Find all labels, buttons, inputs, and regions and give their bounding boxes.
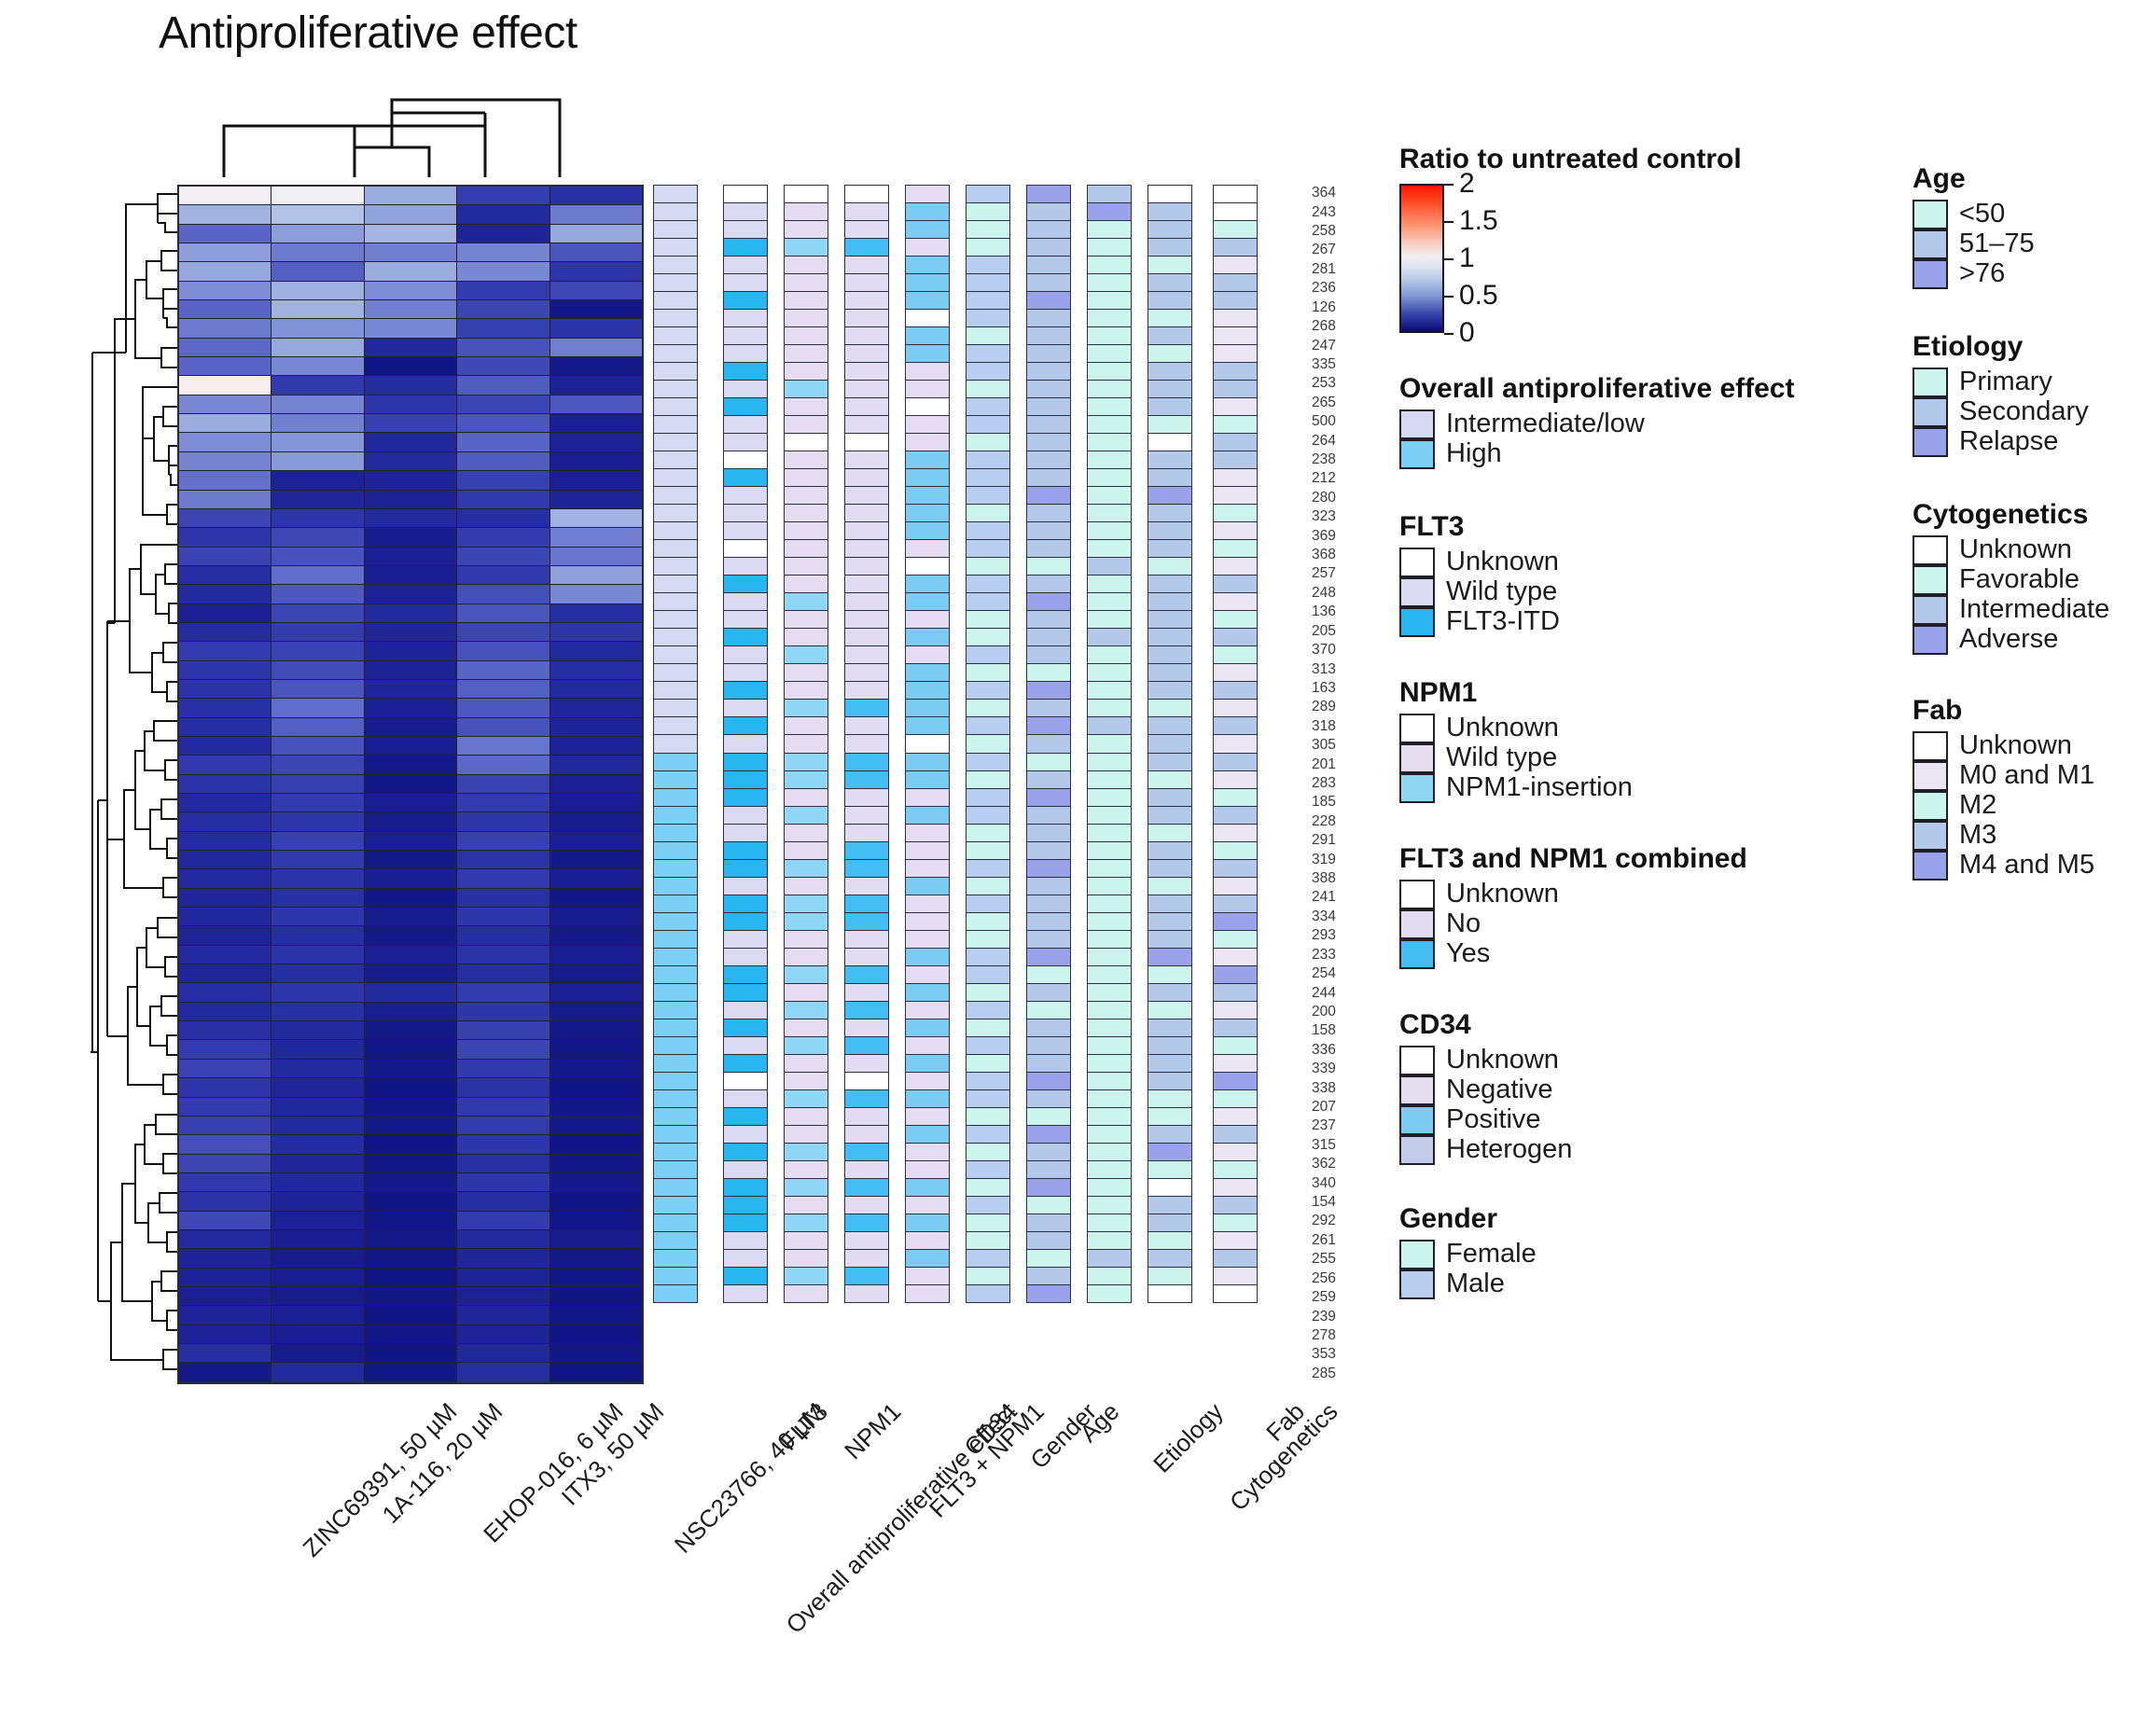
heatmap-cell bbox=[271, 1363, 364, 1381]
annotation-cell bbox=[1148, 912, 1192, 931]
annotation-cell bbox=[1148, 309, 1192, 327]
heatmap-cell bbox=[457, 680, 549, 698]
legend-swatch bbox=[1399, 1269, 1435, 1299]
annotation-cell bbox=[1087, 1196, 1132, 1214]
x-axis-label: Fab bbox=[1260, 1397, 1311, 1448]
heatmap-cell bbox=[550, 205, 642, 223]
heatmap-cell bbox=[179, 1363, 271, 1381]
annotation-cell bbox=[1148, 1019, 1192, 1037]
heatmap-cell bbox=[271, 832, 364, 850]
annotation-cell bbox=[905, 1036, 950, 1055]
annotation-cell bbox=[653, 645, 698, 664]
heatmap-cell bbox=[457, 1021, 549, 1039]
heatmap-row bbox=[179, 983, 642, 1002]
annotation-cell bbox=[784, 344, 828, 363]
annotation-cell bbox=[784, 770, 828, 789]
legend-label: M0 and M1 bbox=[1959, 760, 2094, 790]
heatmap-row bbox=[179, 187, 642, 205]
heatmap-cell bbox=[457, 471, 549, 489]
annotation-cell bbox=[1026, 948, 1071, 966]
annotation-cell bbox=[1213, 1196, 1258, 1214]
annotation-cell bbox=[905, 716, 950, 735]
annotation-cell bbox=[905, 309, 950, 327]
legend-item: M4 and M5 bbox=[1913, 850, 2094, 880]
annotation-cell bbox=[1026, 770, 1071, 789]
annotation-cell bbox=[1213, 824, 1258, 842]
heatmap-cell bbox=[457, 1325, 549, 1343]
heatmap-cell bbox=[550, 1212, 642, 1229]
annotation-cell bbox=[905, 521, 950, 540]
annotation-cell bbox=[653, 592, 698, 611]
annotation-cell bbox=[905, 645, 950, 664]
annotation-cell bbox=[653, 504, 698, 522]
legend-label: Secondary bbox=[1959, 396, 2089, 426]
heatmap-cell bbox=[457, 566, 549, 584]
annotation-cell bbox=[653, 1036, 698, 1055]
heatmap-row bbox=[179, 1269, 642, 1287]
heatmap-cell bbox=[365, 585, 457, 603]
legend-swatch bbox=[1913, 761, 1948, 791]
annotation-cell bbox=[723, 645, 768, 664]
annotation-cell bbox=[653, 486, 698, 505]
annotation-cell bbox=[653, 238, 698, 257]
legend-label: High bbox=[1446, 438, 1502, 468]
annotation-cell bbox=[905, 1054, 950, 1073]
annotation-cell bbox=[1026, 1125, 1071, 1144]
heatmap-cell bbox=[457, 1135, 549, 1153]
annotation-cell bbox=[653, 965, 698, 984]
annotation-cell bbox=[966, 220, 1010, 239]
annotation-cell bbox=[844, 1036, 889, 1055]
heatmap-cell bbox=[271, 756, 364, 773]
heatmap-cell bbox=[179, 357, 271, 375]
annotation-cell bbox=[966, 610, 1010, 629]
legend-swatch bbox=[1399, 880, 1435, 909]
annotation-cell bbox=[784, 1267, 828, 1285]
heatmap-cell bbox=[550, 926, 642, 944]
heatmap-cell bbox=[179, 395, 271, 413]
annotation-cell bbox=[844, 344, 889, 363]
heatmap-cell bbox=[271, 889, 364, 907]
annotation-cell bbox=[966, 291, 1010, 310]
colorbar-tick-label: 0.5 bbox=[1459, 280, 1498, 312]
annotation-cell bbox=[905, 468, 950, 487]
legend-item: <50 bbox=[1913, 199, 2035, 229]
heatmap-cell bbox=[457, 395, 549, 413]
heatmap-cell bbox=[550, 376, 642, 394]
heatmap-cell bbox=[271, 491, 364, 508]
legend-label: 51–75 bbox=[1959, 229, 2035, 258]
row-id-label: 205 bbox=[1312, 624, 1336, 639]
legend-items: UnknownM0 and M1M2M3M4 and M5 bbox=[1913, 730, 2094, 880]
annotation-cell bbox=[844, 220, 889, 239]
annotation-cell bbox=[653, 1019, 698, 1037]
heatmap-cell bbox=[457, 319, 549, 337]
legend-label: Heterogen bbox=[1446, 1134, 1572, 1164]
row-id-label: 255 bbox=[1312, 1252, 1336, 1267]
annotation-cell bbox=[1213, 433, 1258, 451]
annotation-cell bbox=[844, 326, 889, 345]
annotation-cell bbox=[905, 877, 950, 895]
annotation-cell bbox=[1213, 521, 1258, 540]
annotation-cell bbox=[844, 1214, 889, 1232]
heatmap-cell bbox=[457, 1040, 549, 1058]
annotation-cell bbox=[966, 1036, 1010, 1055]
heatmap-cell bbox=[457, 851, 549, 868]
heatmap-cell bbox=[550, 414, 642, 432]
annotation-cell bbox=[966, 1072, 1010, 1090]
annotation-cell bbox=[844, 948, 889, 966]
annotation-cell bbox=[1026, 1001, 1071, 1020]
annotation-cell bbox=[905, 1089, 950, 1108]
annotation-cell bbox=[1148, 1107, 1192, 1126]
annotation-cell bbox=[1213, 948, 1258, 966]
heatmap-cell bbox=[271, 1269, 364, 1286]
row-id-label: 237 bbox=[1312, 1118, 1336, 1133]
annotation-track-flt3 bbox=[723, 185, 768, 1384]
annotation-cell bbox=[844, 1267, 889, 1285]
heatmap-cell bbox=[179, 794, 271, 811]
row-id-label: 353 bbox=[1312, 1347, 1336, 1362]
legend-item: Favorable bbox=[1913, 564, 2109, 594]
heatmap-cell bbox=[365, 908, 457, 925]
annotation-cell bbox=[1213, 1089, 1258, 1108]
heatmap-cell bbox=[457, 1249, 549, 1267]
annotation-cell bbox=[784, 610, 828, 629]
heatmap-cell bbox=[457, 1230, 549, 1248]
heatmap-cell bbox=[457, 585, 549, 603]
annotation-cell bbox=[784, 415, 828, 434]
heatmap-row bbox=[179, 452, 642, 471]
annotation-cell bbox=[784, 185, 828, 203]
heatmap-cell bbox=[179, 1325, 271, 1343]
heatmap-cell bbox=[550, 585, 642, 603]
annotation-cell bbox=[1148, 824, 1192, 842]
annotation-cell bbox=[723, 504, 768, 522]
annotation-cell bbox=[1087, 895, 1132, 913]
heatmap-cell bbox=[550, 983, 642, 1001]
annotation-cell bbox=[1148, 788, 1192, 807]
legend-items: PrimarySecondaryRelapse bbox=[1913, 367, 2089, 456]
annotation-cell bbox=[723, 770, 768, 789]
annotation-cell bbox=[653, 1001, 698, 1020]
annotation-cell bbox=[1087, 539, 1132, 558]
annotation-cell bbox=[1213, 788, 1258, 807]
heatmap-cell bbox=[550, 1325, 642, 1343]
legend-item: Relapse bbox=[1913, 426, 2089, 456]
legend-item: Yes bbox=[1399, 938, 1747, 968]
annotation-cell bbox=[966, 1284, 1010, 1303]
heatmap-cell bbox=[457, 699, 549, 716]
annotation-track-etiology bbox=[1087, 185, 1132, 1384]
heatmap-cell bbox=[271, 452, 364, 470]
annotation-cell bbox=[966, 309, 1010, 327]
annotation-cell bbox=[1026, 202, 1071, 221]
annotation-cell bbox=[1026, 610, 1071, 629]
annotation-cell bbox=[905, 504, 950, 522]
heatmap-cell bbox=[365, 1117, 457, 1134]
annotation-cell bbox=[1213, 326, 1258, 345]
heatmap-cell bbox=[365, 926, 457, 944]
row-id-label: 228 bbox=[1312, 814, 1336, 829]
annotation-cell bbox=[784, 699, 828, 717]
annotation-cell bbox=[723, 965, 768, 984]
heatmap-cell bbox=[179, 1249, 271, 1267]
row-id-label: 265 bbox=[1312, 395, 1336, 410]
heatmap-cell bbox=[365, 851, 457, 868]
heatmap-cell bbox=[457, 642, 549, 659]
heatmap-cell bbox=[457, 661, 549, 679]
annotation-cell bbox=[905, 185, 950, 203]
annotation-cell bbox=[1087, 557, 1132, 576]
annotation-cell bbox=[966, 841, 1010, 860]
annotation-cell bbox=[905, 1001, 950, 1020]
row-id-label: 136 bbox=[1312, 604, 1336, 619]
annotation-cell bbox=[966, 1160, 1010, 1179]
annotation-cell bbox=[1026, 912, 1071, 931]
annotation-cell bbox=[1087, 1001, 1132, 1020]
legend-label: Unknown bbox=[1959, 534, 2072, 564]
annotation-cell bbox=[905, 663, 950, 682]
heatmap-cell bbox=[457, 869, 549, 887]
annotation-cell bbox=[905, 948, 950, 966]
annotation-cell bbox=[723, 1019, 768, 1037]
heatmap-cell bbox=[365, 623, 457, 641]
annotation-cell bbox=[784, 859, 828, 878]
annotation-cell bbox=[723, 1089, 768, 1108]
annotation-cell bbox=[844, 1231, 889, 1250]
annotation-cell bbox=[723, 202, 768, 221]
legend-npm1: NPM1UnknownWild typeNPM1-insertion bbox=[1399, 677, 1633, 802]
annotation-cell bbox=[1026, 699, 1071, 717]
annotation-cell bbox=[1026, 681, 1071, 700]
heatmap-row bbox=[179, 642, 642, 660]
annotation-cell bbox=[905, 859, 950, 878]
row-id-label: 233 bbox=[1312, 948, 1336, 963]
heatmap-cell bbox=[271, 1306, 364, 1324]
heatmap-cell bbox=[457, 528, 549, 546]
annotation-cell bbox=[1213, 309, 1258, 327]
annotation-cell bbox=[966, 504, 1010, 522]
annotation-cell bbox=[784, 1054, 828, 1073]
annotation-cell bbox=[844, 1249, 889, 1268]
annotation-cell bbox=[723, 451, 768, 469]
colorbar-tick-mark bbox=[1444, 333, 1454, 335]
legend-swatch bbox=[1399, 577, 1435, 607]
heatmap-cell bbox=[271, 1230, 364, 1248]
heatmap-cell bbox=[365, 946, 457, 964]
annotation-cell bbox=[905, 220, 950, 239]
heatmap-cell bbox=[271, 946, 364, 964]
annotation-cell bbox=[653, 930, 698, 949]
heatmap-cell bbox=[457, 1098, 549, 1116]
heatmap-cell bbox=[271, 661, 364, 679]
annotation-cell bbox=[1213, 1036, 1258, 1055]
heatmap-cell bbox=[179, 1287, 271, 1305]
heatmap-cell bbox=[550, 832, 642, 850]
annotation-cell bbox=[844, 770, 889, 789]
legend-items: UnknownFavorableIntermediateAdverse bbox=[1913, 534, 2109, 654]
row-id-label: 257 bbox=[1312, 566, 1336, 581]
heatmap-cell bbox=[550, 756, 642, 773]
annotation-cell bbox=[844, 1054, 889, 1073]
annotation-cell bbox=[1026, 415, 1071, 434]
annotation-cell bbox=[905, 1143, 950, 1161]
annotation-cell bbox=[653, 1267, 698, 1285]
annotation-cell bbox=[784, 1160, 828, 1179]
legend-item: >76 bbox=[1913, 258, 2035, 288]
annotation-cell bbox=[1087, 983, 1132, 1002]
annotation-cell bbox=[1148, 326, 1192, 345]
annotation-cell bbox=[723, 1125, 768, 1144]
heatmap-row bbox=[179, 205, 642, 224]
annotation-cell bbox=[1026, 645, 1071, 664]
legend-swatch bbox=[1913, 397, 1948, 427]
annotation-cell bbox=[1213, 1160, 1258, 1179]
heatmap-cell bbox=[179, 926, 271, 944]
annotation-cell bbox=[1148, 1231, 1192, 1250]
row-id-label: 291 bbox=[1312, 833, 1336, 848]
heatmap-cell bbox=[365, 452, 457, 470]
annotation-cell bbox=[653, 1160, 698, 1179]
annotation-cell bbox=[653, 1231, 698, 1250]
annotation-cell bbox=[844, 1019, 889, 1037]
legend-items: UnknownNegativePositiveHeterogen bbox=[1399, 1045, 1572, 1164]
row-id-label: 247 bbox=[1312, 339, 1336, 354]
annotation-cell bbox=[966, 1001, 1010, 1020]
annotation-cell bbox=[1026, 291, 1071, 310]
heatmap-cell bbox=[550, 1117, 642, 1134]
legend-label: Unknown bbox=[1446, 713, 1559, 742]
row-id-label: 319 bbox=[1312, 853, 1336, 867]
heatmap-cell bbox=[365, 964, 457, 982]
x-axis-label: FLT3 bbox=[774, 1397, 833, 1456]
legend-label: Relapse bbox=[1959, 426, 2058, 456]
annotation-cell bbox=[1026, 344, 1071, 363]
annotation-cell bbox=[844, 983, 889, 1002]
heatmap-cell bbox=[179, 1192, 271, 1210]
annotation-cell bbox=[653, 734, 698, 753]
heatmap-cell bbox=[457, 1363, 549, 1381]
annotation-cell bbox=[653, 344, 698, 363]
legend-label: Unknown bbox=[1446, 1045, 1559, 1075]
legend-swatch bbox=[1913, 821, 1948, 851]
annotation-cell bbox=[905, 433, 950, 451]
x-axis-label: Overall antiproliferative effect bbox=[780, 1397, 1022, 1640]
annotation-cell bbox=[653, 1214, 698, 1232]
annotation-cell bbox=[723, 415, 768, 434]
annotation-cell bbox=[1026, 468, 1071, 487]
annotation-cell bbox=[905, 575, 950, 593]
annotation-cell bbox=[905, 397, 950, 416]
annotation-cell bbox=[784, 1089, 828, 1108]
heatmap-cell bbox=[271, 812, 364, 830]
annotation-cell bbox=[723, 753, 768, 771]
annotation-cell bbox=[966, 1267, 1010, 1285]
annotation-cell bbox=[1213, 291, 1258, 310]
heatmap-cell bbox=[365, 528, 457, 546]
annotation-cell bbox=[905, 326, 950, 345]
annotation-cell bbox=[966, 912, 1010, 931]
heatmap-cell bbox=[365, 491, 457, 508]
heatmap-cell bbox=[365, 889, 457, 907]
heatmap-row bbox=[179, 491, 642, 509]
heatmap-row bbox=[179, 262, 642, 281]
annotation-cell bbox=[1026, 1178, 1071, 1197]
heatmap-row bbox=[179, 699, 642, 717]
heatmap-row bbox=[179, 548, 642, 566]
row-id-label: 315 bbox=[1312, 1138, 1336, 1153]
annotation-cell bbox=[1148, 468, 1192, 487]
annotation-cell bbox=[1087, 433, 1132, 451]
annotation-cell bbox=[1026, 788, 1071, 807]
legend-swatch bbox=[1913, 851, 1948, 881]
heatmap-cell bbox=[457, 775, 549, 793]
legend-item: M2 bbox=[1913, 790, 2094, 820]
annotation-cell bbox=[653, 948, 698, 966]
annotation-cell bbox=[784, 1036, 828, 1055]
annotation-cell bbox=[844, 841, 889, 860]
annotation-cell bbox=[1213, 1178, 1258, 1197]
heatmap-row bbox=[179, 775, 642, 794]
annotation-cell bbox=[784, 681, 828, 700]
heatmap-cell bbox=[457, 1078, 549, 1096]
heatmap-cell bbox=[365, 1078, 457, 1096]
legend-swatch bbox=[1913, 229, 1948, 259]
heatmap-cell bbox=[271, 243, 364, 261]
heatmap-cell bbox=[365, 376, 457, 394]
heatmap-cell bbox=[365, 680, 457, 698]
x-axis-label: Etiology bbox=[1148, 1397, 1229, 1478]
annotation-cell bbox=[723, 1001, 768, 1020]
annotation-cell bbox=[966, 539, 1010, 558]
annotation-cell bbox=[1026, 539, 1071, 558]
annotation-cell bbox=[844, 521, 889, 540]
heatmap-cell bbox=[179, 433, 271, 451]
row-id-label: 285 bbox=[1312, 1366, 1336, 1381]
heatmap-cell bbox=[271, 775, 364, 793]
annotation-cell bbox=[966, 663, 1010, 682]
annotation-cell bbox=[1148, 1089, 1192, 1108]
annotation-cell bbox=[844, 699, 889, 717]
annotation-cell bbox=[1087, 930, 1132, 949]
heatmap-cell bbox=[365, 262, 457, 280]
heatmap-cell bbox=[179, 282, 271, 299]
annotation-cell bbox=[844, 539, 889, 558]
annotation-cell bbox=[844, 309, 889, 327]
annotation-cell bbox=[723, 592, 768, 611]
annotation-cell bbox=[966, 273, 1010, 292]
annotation-cell bbox=[966, 1125, 1010, 1144]
annotation-cell bbox=[723, 486, 768, 505]
annotation-cell bbox=[1148, 663, 1192, 682]
heatmap-cell bbox=[457, 623, 549, 641]
row-id-label: 268 bbox=[1312, 319, 1336, 334]
annotation-cell bbox=[723, 681, 768, 700]
annotation-cell bbox=[905, 734, 950, 753]
heatmap-cell bbox=[550, 1098, 642, 1116]
annotation-cell bbox=[1148, 256, 1192, 274]
annotation-cell bbox=[844, 1072, 889, 1090]
annotation-cell bbox=[905, 486, 950, 505]
annotation-cell bbox=[905, 895, 950, 913]
heatmap-cell bbox=[457, 339, 549, 356]
annotation-cell bbox=[844, 1143, 889, 1161]
annotation-cell bbox=[1026, 663, 1071, 682]
heatmap-cell bbox=[457, 1212, 549, 1229]
annotation-cell bbox=[1213, 930, 1258, 949]
heatmap-row bbox=[179, 300, 642, 319]
